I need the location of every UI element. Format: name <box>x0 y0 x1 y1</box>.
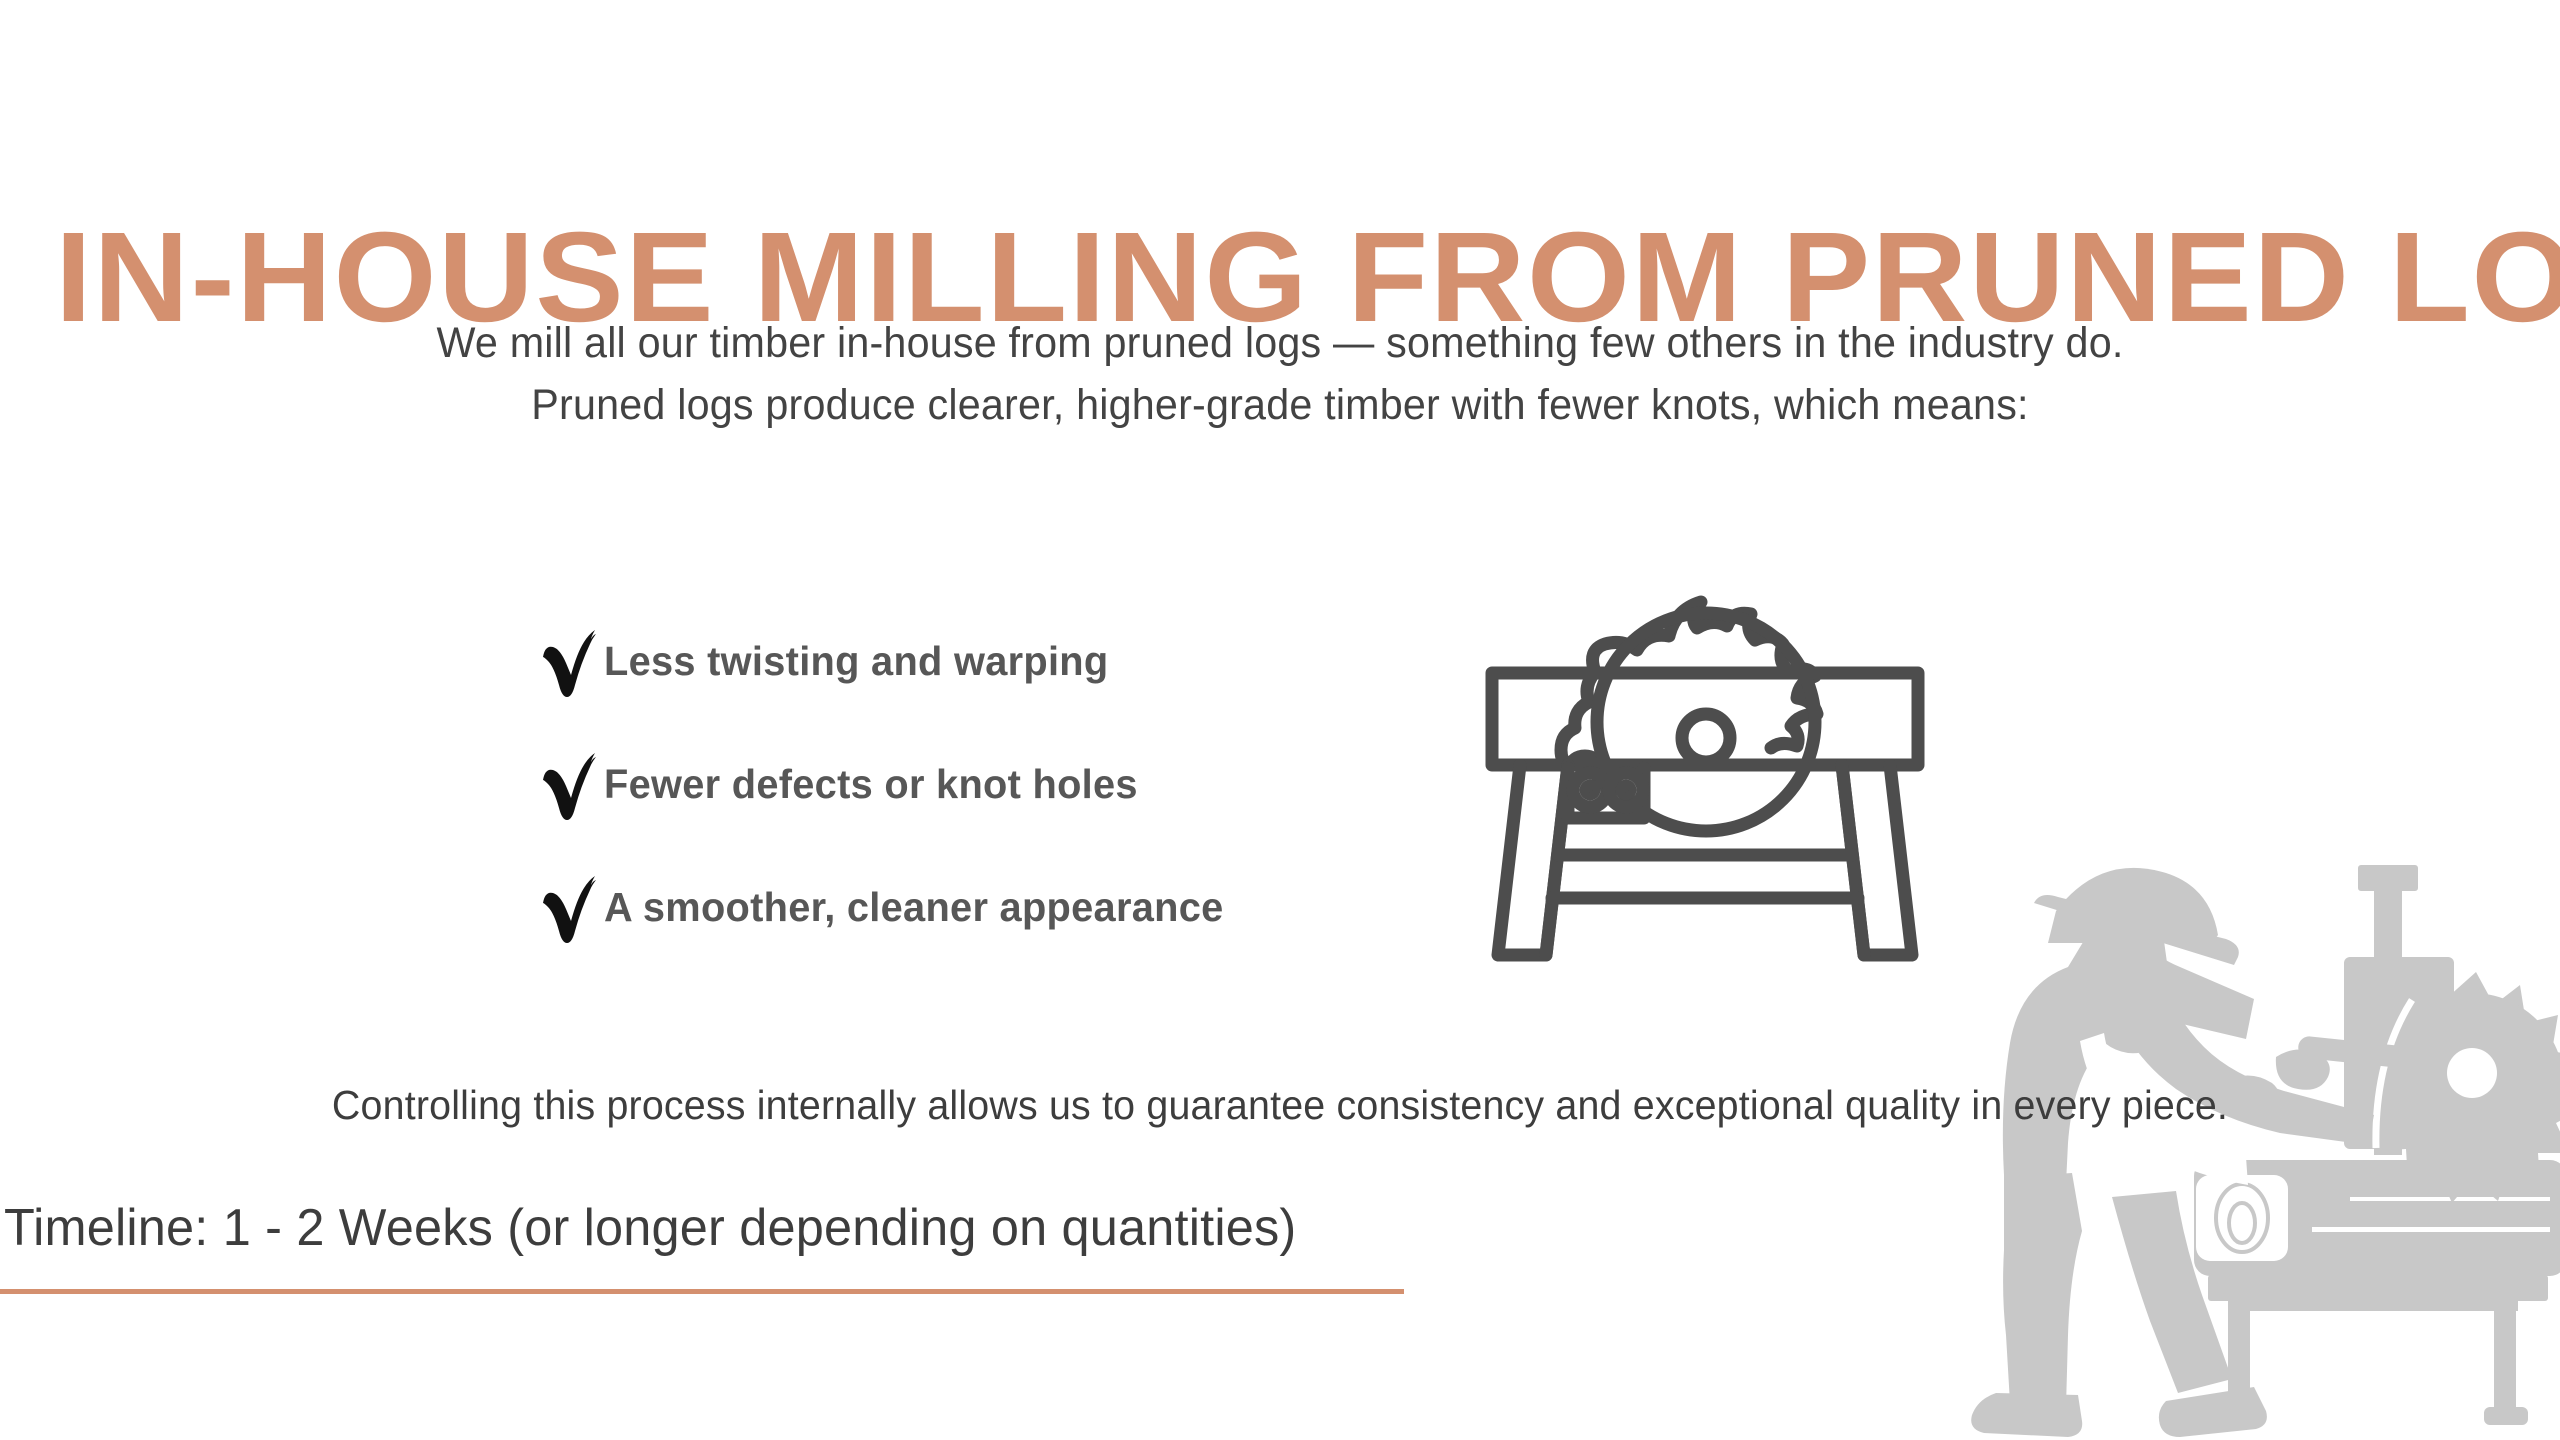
benefits-list: Less twisting and warping Fewer defects … <box>540 600 1243 969</box>
list-item: A smoother, cleaner appearance <box>540 846 1243 969</box>
subtitle: We mill all our timber in-house from pru… <box>51 312 2509 436</box>
list-item-label: A smoother, cleaner appearance <box>604 884 1224 931</box>
check-icon <box>540 869 598 947</box>
table-saw-icon <box>1480 500 1930 970</box>
list-item: Fewer defects or knot holes <box>540 723 1243 846</box>
subtitle-line-1: We mill all our timber in-house from pru… <box>51 312 2509 374</box>
timeline-text: Timeline: 1 - 2 Weeks (or longer dependi… <box>4 1198 1296 1258</box>
closing-statement: Controlling this process internally allo… <box>51 1082 2509 1129</box>
list-item: Less twisting and warping <box>540 600 1243 723</box>
subtitle-line-2: Pruned logs produce clearer, higher-grad… <box>51 374 2509 436</box>
list-item-label: Fewer defects or knot holes <box>604 761 1138 808</box>
slide-canvas: IN-HOUSE MILLING FROM PRUNED LOGS We mil… <box>0 0 2560 1440</box>
list-item-label: Less twisting and warping <box>604 638 1108 685</box>
worker-at-sawmill-silhouette <box>1960 845 2560 1440</box>
timeline-underline-rule <box>0 1289 1404 1294</box>
check-icon <box>540 746 598 824</box>
check-icon <box>540 623 598 701</box>
